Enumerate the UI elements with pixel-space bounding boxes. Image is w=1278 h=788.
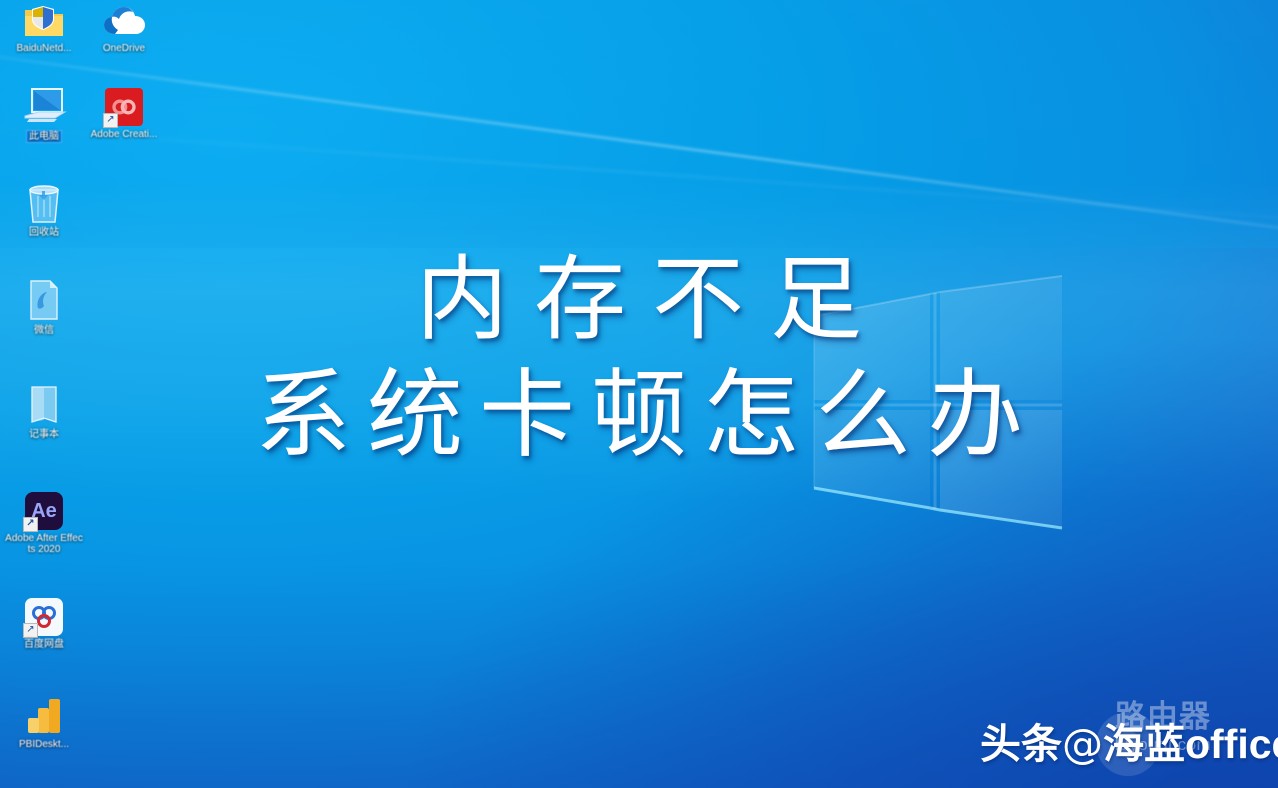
wallpaper-bottom-shade [0,558,1278,788]
desktop-icon-onedrive[interactable]: OneDrive [84,0,164,54]
desktop-icon-label: 百度网盘 [4,639,84,650]
after-effects-icon: Ae ↗ [4,482,84,530]
computer-icon [4,78,84,126]
desktop-icon-adobe-creative-cloud[interactable]: ↗ Adobe Creati... [84,78,164,140]
document-blue-icon [4,274,84,322]
creative-cloud-icon: ↗ [84,78,164,126]
desktop-icon-baidu-netdisk[interactable]: ↗ 百度网盘 [4,588,84,650]
desktop-icon-notes[interactable]: 记事本 [4,378,84,440]
desktop-icon-wechat[interactable]: 微信 [4,274,84,336]
desktop-icon-label: 微信 [4,325,84,336]
shortcut-arrow-icon: ↗ [103,113,118,128]
desktop-icon-after-effects[interactable]: Ae ↗ Adobe After Effects 2020 [4,482,84,555]
desktop-screen: BaiduNetd... OneDrive [0,0,1278,788]
desktop-icon-label: 此电脑 [27,131,61,142]
desktop-icon-label: PBIDeskt... [4,739,84,750]
desktop-icon-label: Adobe Creati... [84,129,164,140]
desktop-icon-label: 回收站 [4,227,84,238]
recycle-bin-icon [4,176,84,224]
desktop-icon-label: 记事本 [4,429,84,440]
windows-logo-icon [806,276,1074,544]
folder-shield-icon [4,0,84,40]
desktop-icon-label: BaiduNetd... [4,43,84,54]
cloud-icon [84,0,164,40]
baidu-netdisk-icon: ↗ [4,588,84,636]
shortcut-arrow-icon: ↗ [23,623,38,638]
desktop-icon-recycle-bin[interactable]: 回收站 [4,176,84,238]
notepad-icon [4,378,84,426]
desktop-icon-this-pc[interactable]: 此电脑 [4,78,84,144]
desktop-icon-baidu-netdisk-top[interactable]: BaiduNetd... [4,0,84,54]
desktop-icon-label: OneDrive [84,43,164,54]
desktop-icon-grid: BaiduNetd... OneDrive [0,0,160,788]
watermark-circle-icon [1096,712,1160,776]
desktop-icon-power-bi-desktop[interactable]: PBIDeskt... [4,688,84,750]
power-bi-icon [4,688,84,736]
desktop-icon-label: Adobe After Effects 2020 [4,533,84,555]
shortcut-arrow-icon: ↗ [23,517,38,532]
